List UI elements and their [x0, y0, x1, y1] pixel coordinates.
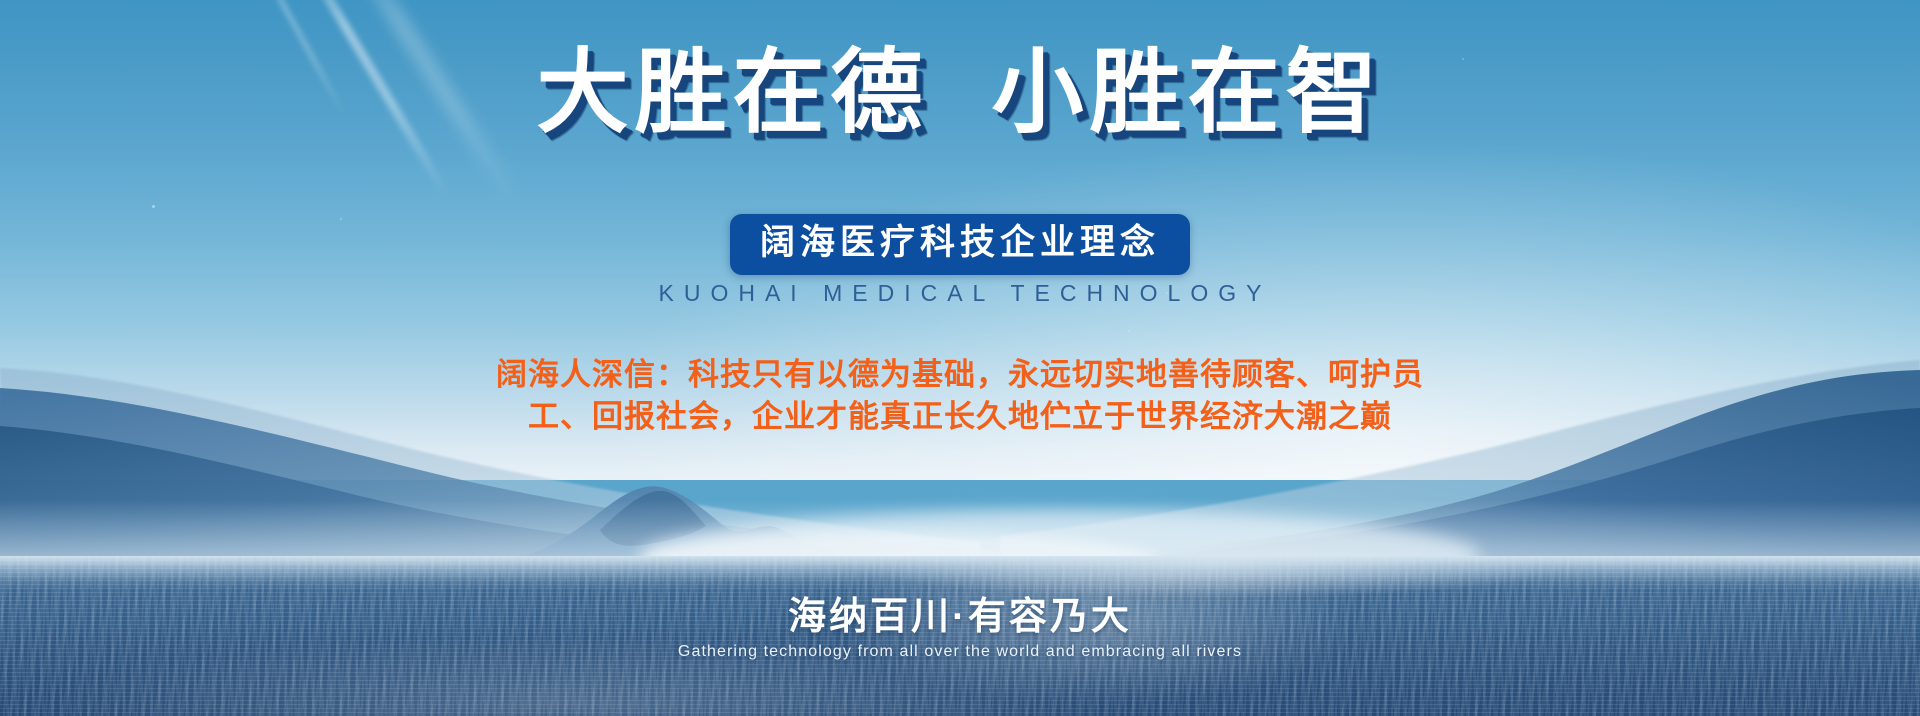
philosophy-statement-line-1: 阔海人深信：科技只有以德为基础，永远切实地善待顾客、呵护员 [0, 354, 1920, 396]
company-name-english: KUOHAI MEDICAL TECHNOLOGY [0, 280, 1920, 307]
banner-content: 大胜在德 小胜在智 阔海医疗科技企业理念 KUOHAI MEDICAL TECH… [0, 0, 1920, 716]
footer-slogan-chinese: 海纳百川·有容乃大 [0, 592, 1920, 642]
company-philosophy-badge: 阔海医疗科技企业理念 [730, 214, 1190, 275]
banner-footer: 海纳百川·有容乃大 Gathering technology from all … [0, 592, 1920, 661]
page-title: 大胜在德 小胜在智 [0, 44, 1920, 143]
footer-slogan-english: Gathering technology from all over the w… [0, 643, 1920, 661]
philosophy-statement: 阔海人深信：科技只有以德为基础，永远切实地善待顾客、呵护员 工、回报社会，企业才… [0, 354, 1920, 438]
company-philosophy-badge-label: 阔海医疗科技企业理念 [760, 222, 1160, 265]
philosophy-statement-line-2: 工、回报社会，企业才能真正长久地伫立于世界经济大潮之巅 [0, 396, 1920, 438]
hero-banner: 大胜在德 小胜在智 阔海医疗科技企业理念 KUOHAI MEDICAL TECH… [0, 0, 1920, 716]
